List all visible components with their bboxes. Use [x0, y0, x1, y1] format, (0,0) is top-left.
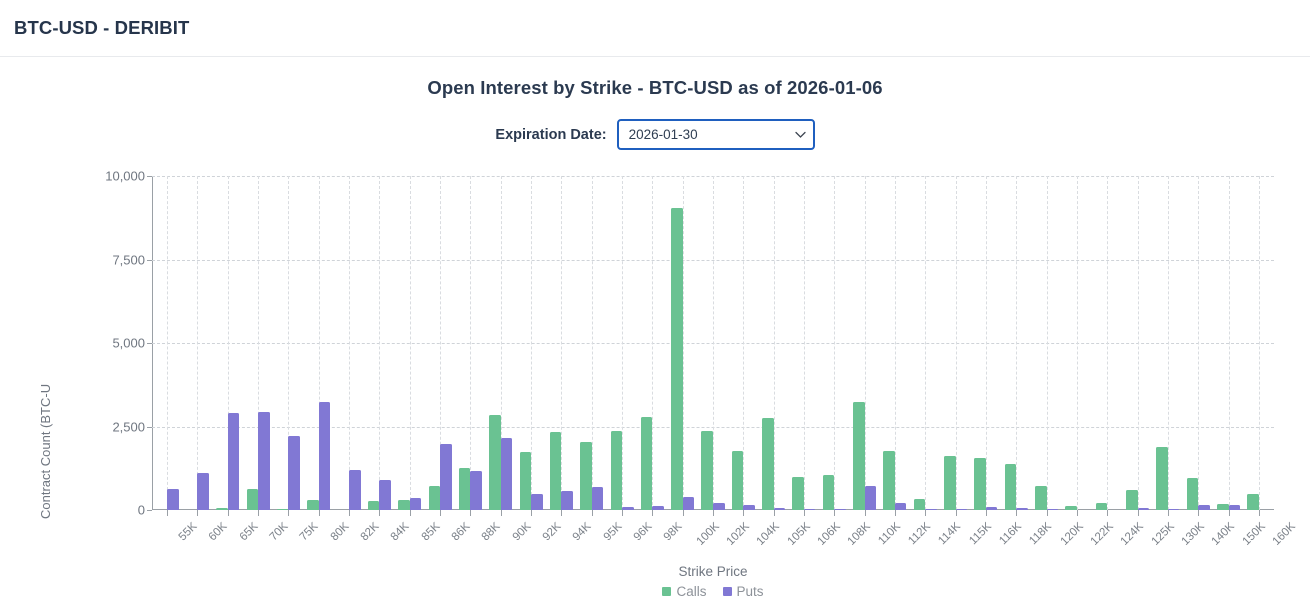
x-tick-label: 112K	[906, 520, 933, 547]
x-tick-mark	[683, 510, 684, 516]
bar-puts-92K[interactable]	[531, 494, 543, 510]
bar-puts-75K[interactable]	[288, 436, 300, 510]
x-tick-mark	[804, 510, 805, 516]
bar-puts-55K[interactable]	[167, 489, 179, 510]
x-tick-mark	[1259, 510, 1260, 516]
x-tick-label: 92K	[541, 520, 564, 543]
chart-legend: CallsPuts	[152, 584, 1274, 599]
bar-calls-120K[interactable]	[1035, 486, 1047, 510]
bar-puts-85K[interactable]	[410, 498, 422, 510]
x-tick-label: 108K	[846, 520, 873, 547]
legend-item-puts[interactable]: Puts	[723, 584, 764, 599]
y-axis-label: Contract Count (BTC-U	[38, 339, 54, 519]
bar-calls-105K[interactable]	[762, 418, 774, 510]
bar-puts-102K[interactable]	[713, 503, 725, 510]
bar-calls-85K[interactable]	[398, 500, 410, 510]
bar-puts-104K[interactable]	[743, 505, 755, 510]
x-tick-mark	[349, 510, 350, 516]
bar-calls-92K[interactable]	[520, 452, 532, 510]
bar-calls-90K[interactable]	[489, 415, 501, 510]
x-tick-label: 150K	[1240, 520, 1267, 547]
x-tick-label: 102K	[724, 520, 751, 547]
x-tick-mark	[652, 510, 653, 516]
x-tick-mark	[319, 510, 320, 516]
x-tick-label: 82K	[359, 520, 382, 543]
x-tick-label: 55K	[177, 520, 200, 543]
x-tick-mark	[834, 510, 835, 516]
x-tick-label: 65K	[237, 520, 260, 543]
bar-calls-80K[interactable]	[307, 500, 319, 510]
x-tick-label: 114K	[936, 520, 963, 547]
x-tick-mark	[410, 510, 411, 516]
x-tick-mark	[1107, 510, 1108, 516]
y-tick-mark	[147, 510, 152, 511]
bar-calls-102K[interactable]	[701, 431, 713, 510]
x-tick-mark	[925, 510, 926, 516]
x-tick-mark	[986, 510, 987, 516]
bar-puts-115K[interactable]	[956, 509, 968, 511]
x-tick-label: 140K	[1210, 520, 1237, 547]
x-tick-label: 125K	[1149, 520, 1176, 547]
bar-puts-96K[interactable]	[622, 507, 634, 510]
bar-calls-88K[interactable]	[459, 468, 471, 510]
expiration-date-select[interactable]: 2026-01-30	[617, 119, 815, 150]
legend-swatch-calls-icon	[662, 587, 671, 596]
bar-calls-114K[interactable]	[914, 499, 926, 510]
expiration-date-label: Expiration Date:	[495, 127, 606, 143]
bar-puts-94K[interactable]	[561, 491, 573, 510]
x-tick-mark	[1168, 510, 1169, 516]
bar-puts-82K[interactable]	[349, 470, 361, 510]
x-tick-mark	[1138, 510, 1139, 516]
x-tick-label: 115K	[967, 520, 994, 547]
bar-puts-112K[interactable]	[895, 503, 907, 510]
x-tick-label: 160K	[1270, 520, 1297, 547]
page-title: BTC-USD - DERIBIT	[14, 17, 189, 39]
x-tick-mark	[258, 510, 259, 516]
x-tick-label: 116K	[997, 520, 1024, 547]
x-tick-mark	[956, 510, 957, 516]
x-tick-label: 96K	[632, 520, 655, 543]
bar-puts-65K[interactable]	[228, 413, 240, 510]
bar-calls-124K[interactable]	[1096, 503, 1108, 510]
bar-calls-112K[interactable]	[883, 451, 895, 510]
bar-calls-84K[interactable]	[368, 501, 380, 510]
bar-calls-110K[interactable]	[853, 402, 865, 510]
bar-puts-100K[interactable]	[683, 497, 695, 510]
x-tick-mark	[1229, 510, 1230, 516]
x-axis-label: Strike Price	[152, 564, 1274, 579]
bar-puts-80K[interactable]	[319, 402, 331, 510]
bar-calls-86K[interactable]	[429, 486, 441, 510]
plot-area: Contract Count (BTC-U 02,5005,0007,50010…	[0, 164, 1310, 604]
x-tick-label: 118K	[1027, 520, 1054, 547]
x-tick-mark	[713, 510, 714, 516]
bar-calls-108K[interactable]	[823, 475, 835, 510]
bar-calls-104K[interactable]	[732, 451, 744, 510]
legend-label: Puts	[737, 584, 764, 599]
bar-puts-125K[interactable]	[1138, 508, 1150, 510]
bar-puts-98K[interactable]	[652, 506, 664, 510]
x-tick-mark	[440, 510, 441, 516]
x-tick-label: 104K	[755, 520, 782, 547]
bar-calls-115K[interactable]	[944, 456, 956, 510]
x-tick-label: 80K	[328, 520, 351, 543]
bar-puts-140K[interactable]	[1198, 505, 1210, 510]
app-header: BTC-USD - DERIBIT	[0, 0, 1310, 57]
x-tick-mark	[470, 510, 471, 516]
x-tick-label: 98K	[662, 520, 685, 543]
bar-calls-140K[interactable]	[1187, 478, 1199, 510]
x-tick-label: 106K	[815, 520, 842, 547]
x-tick-mark	[167, 510, 168, 516]
bar-calls-106K[interactable]	[792, 477, 804, 510]
bar-puts-84K[interactable]	[379, 480, 391, 510]
plot-canvas: 02,5005,0007,50010,000 55K60K65K70K75K80…	[152, 176, 1274, 510]
chart-card: Open Interest by Strike - BTC-USD as of …	[0, 57, 1310, 604]
x-tick-label: 105K	[785, 520, 812, 547]
bar-calls-70K[interactable]	[247, 489, 259, 510]
bar-calls-95K[interactable]	[580, 442, 592, 510]
bar-puts-105K[interactable]	[774, 508, 786, 510]
x-tick-label: 94K	[571, 520, 594, 543]
bar-puts-86K[interactable]	[440, 444, 452, 510]
x-tick-mark	[743, 510, 744, 516]
bar-calls-94K[interactable]	[550, 432, 562, 510]
bar-calls-125K[interactable]	[1126, 490, 1138, 510]
x-tick-mark	[774, 510, 775, 516]
x-tick-label: 124K	[1119, 520, 1146, 547]
bar-puts-60K[interactable]	[197, 473, 209, 510]
bar-puts-120K[interactable]	[1047, 509, 1059, 511]
chart-controls: Expiration Date: 2026-01-30	[0, 119, 1310, 150]
x-tick-mark	[1047, 510, 1048, 516]
bar-puts-90K[interactable]	[501, 438, 513, 510]
x-tick-mark	[1077, 510, 1078, 516]
bar-calls-150K[interactable]	[1217, 504, 1229, 510]
bar-puts-70K[interactable]	[258, 412, 270, 510]
chart-title: Open Interest by Strike - BTC-USD as of …	[0, 77, 1310, 102]
x-tick-label: 70K	[268, 520, 291, 543]
x-tick-label: 120K	[1058, 520, 1085, 547]
x-tick-mark	[1198, 510, 1199, 516]
x-tick-mark	[228, 510, 229, 516]
x-tick-label: 130K	[1179, 520, 1206, 547]
x-tick-label: 88K	[480, 520, 503, 543]
bar-calls-75K[interactable]	[277, 509, 289, 511]
expiration-date-select-wrap: 2026-01-30	[617, 119, 815, 150]
y-tick-label: 10,000	[105, 169, 152, 184]
legend-item-calls[interactable]: Calls	[662, 584, 706, 599]
legend-label: Calls	[676, 584, 706, 599]
bar-puts-106K[interactable]	[804, 509, 816, 511]
x-tick-label: 122K	[1088, 520, 1115, 547]
bar-calls-98K[interactable]	[641, 417, 653, 510]
x-tick-label: 75K	[298, 520, 321, 543]
bar-calls-118K[interactable]	[1005, 464, 1017, 510]
bar-puts-95K[interactable]	[592, 487, 604, 510]
x-tick-mark	[865, 510, 866, 516]
bar-puts-150K[interactable]	[1229, 505, 1241, 510]
x-tick-label: 84K	[389, 520, 412, 543]
bar-calls-100K[interactable]	[671, 208, 683, 510]
x-tick-label: 86K	[450, 520, 473, 543]
bar-calls-160K[interactable]	[1247, 494, 1259, 510]
bar-puts-118K[interactable]	[1016, 508, 1028, 510]
x-tick-label: 100K	[694, 520, 721, 547]
x-tick-mark	[561, 510, 562, 516]
x-tick-mark	[501, 510, 502, 516]
x-tick-mark	[895, 510, 896, 516]
x-tick-label: 60K	[207, 520, 230, 543]
bar-calls-122K[interactable]	[1065, 506, 1077, 510]
bar-puts-108K[interactable]	[834, 509, 846, 511]
bar-puts-114K[interactable]	[925, 509, 937, 511]
x-tick-mark	[1016, 510, 1017, 516]
x-tick-label: 95K	[601, 520, 624, 543]
x-tick-label: 85K	[419, 520, 442, 543]
legend-swatch-puts-icon	[723, 587, 732, 596]
x-tick-label: 90K	[510, 520, 533, 543]
bar-puts-110K[interactable]	[865, 486, 877, 510]
x-tick-mark	[622, 510, 623, 516]
bar-puts-88K[interactable]	[470, 471, 482, 510]
bar-calls-130K[interactable]	[1156, 447, 1168, 510]
x-tick-label: 110K	[876, 520, 903, 547]
x-tick-mark	[592, 510, 593, 516]
bar-puts-116K[interactable]	[986, 507, 998, 510]
bar-group-container	[152, 176, 1274, 510]
bar-calls-96K[interactable]	[611, 431, 623, 510]
x-tick-mark	[379, 510, 380, 516]
bar-calls-65K[interactable]	[216, 508, 228, 510]
app-window: BTC-USD - DERIBIT Open Interest by Strik…	[0, 0, 1310, 616]
x-tick-mark	[197, 510, 198, 516]
bar-puts-130K[interactable]	[1168, 509, 1180, 511]
x-tick-mark	[531, 510, 532, 516]
bar-calls-116K[interactable]	[974, 458, 986, 510]
x-tick-mark	[288, 510, 289, 516]
